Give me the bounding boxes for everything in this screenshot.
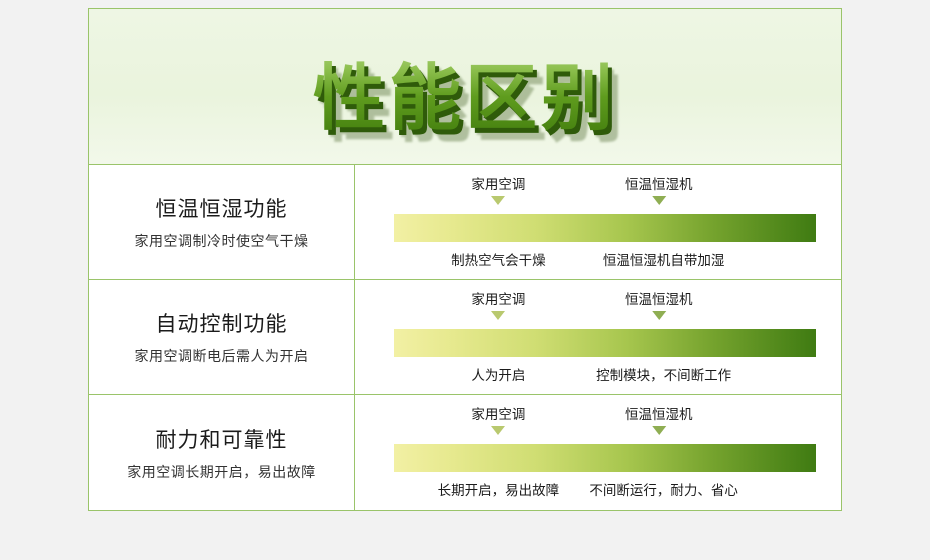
comparison-row: 自动控制功能 家用空调断电后需人为开启 家用空调 恒温恒湿机 人为开启 控制模块…	[89, 280, 841, 395]
comparison-row: 耐力和可靠性 家用空调长期开启，易出故障 家用空调 恒温恒湿机 长期开启，易出故…	[89, 395, 841, 511]
marker-home-ac: 家用空调	[471, 173, 525, 205]
row-label-cell: 耐力和可靠性 家用空调长期开启，易出故障	[89, 395, 355, 511]
marker-label: 恒温恒湿机	[625, 407, 693, 423]
marker-constant-temp-humidity: 恒温恒湿机	[625, 288, 693, 320]
marker-label: 家用空调	[471, 407, 525, 423]
gradient-bar	[394, 444, 816, 472]
title-block: 性能区别	[89, 9, 841, 165]
marker-home-ac: 家用空调	[471, 403, 525, 435]
gradient-bar	[394, 329, 816, 357]
row-label-cell: 自动控制功能 家用空调断电后需人为开启	[89, 280, 355, 394]
caption-right: 控制模块，不间断工作	[596, 364, 731, 384]
arrow-down-icon	[652, 426, 666, 435]
arrow-down-icon	[652, 196, 666, 205]
gradient-bar-wrap	[394, 329, 816, 357]
gradient-bar	[394, 214, 816, 242]
row-title: 耐力和可靠性	[156, 424, 288, 454]
arrow-down-icon	[491, 196, 505, 205]
gradient-bar-wrap	[394, 444, 816, 472]
caption-left: 长期开启，易出故障	[438, 479, 560, 499]
row-label-cell: 恒温恒湿功能 家用空调制冷时使空气干燥	[89, 165, 355, 279]
marker-label: 恒温恒湿机	[625, 292, 693, 308]
caption-right: 不间断运行，耐力、省心	[589, 479, 738, 499]
marker-label: 恒温恒湿机	[625, 177, 693, 193]
row-title: 恒温恒湿功能	[156, 193, 288, 223]
comparison-panel: 性能区别 恒温恒湿功能 家用空调制冷时使空气干燥 家用空调 恒温恒湿机 制	[88, 8, 842, 511]
comparison-row: 恒温恒湿功能 家用空调制冷时使空气干燥 家用空调 恒温恒湿机 制热空气会干燥 恒…	[89, 165, 841, 280]
page-title: 性能区别	[89, 39, 841, 144]
gradient-bar-wrap	[394, 214, 816, 242]
page-root: 性能区别 恒温恒湿功能 家用空调制冷时使空气干燥 家用空调 恒温恒湿机 制	[0, 0, 930, 560]
row-subtitle: 家用空调长期开启，易出故障	[127, 462, 316, 482]
row-subtitle: 家用空调断电后需人为开启	[135, 346, 309, 366]
marker-constant-temp-humidity: 恒温恒湿机	[625, 173, 693, 205]
caption-left: 人为开启	[471, 364, 525, 384]
arrow-down-icon	[652, 311, 666, 320]
row-chart-cell: 家用空调 恒温恒湿机 制热空气会干燥 恒温恒湿机自带加湿	[355, 165, 841, 279]
row-chart-cell: 家用空调 恒温恒湿机 人为开启 控制模块，不间断工作	[355, 280, 841, 394]
marker-constant-temp-humidity: 恒温恒湿机	[625, 403, 693, 435]
arrow-down-icon	[491, 426, 505, 435]
row-subtitle: 家用空调制冷时使空气干燥	[135, 231, 309, 251]
row-title: 自动控制功能	[156, 308, 288, 338]
marker-label: 家用空调	[471, 177, 525, 193]
caption-right: 恒温恒湿机自带加湿	[603, 249, 725, 269]
caption-left: 制热空气会干燥	[451, 249, 546, 269]
row-chart-cell: 家用空调 恒温恒湿机 长期开启，易出故障 不间断运行，耐力、省心	[355, 395, 841, 511]
arrow-down-icon	[491, 311, 505, 320]
marker-home-ac: 家用空调	[471, 288, 525, 320]
marker-label: 家用空调	[471, 292, 525, 308]
